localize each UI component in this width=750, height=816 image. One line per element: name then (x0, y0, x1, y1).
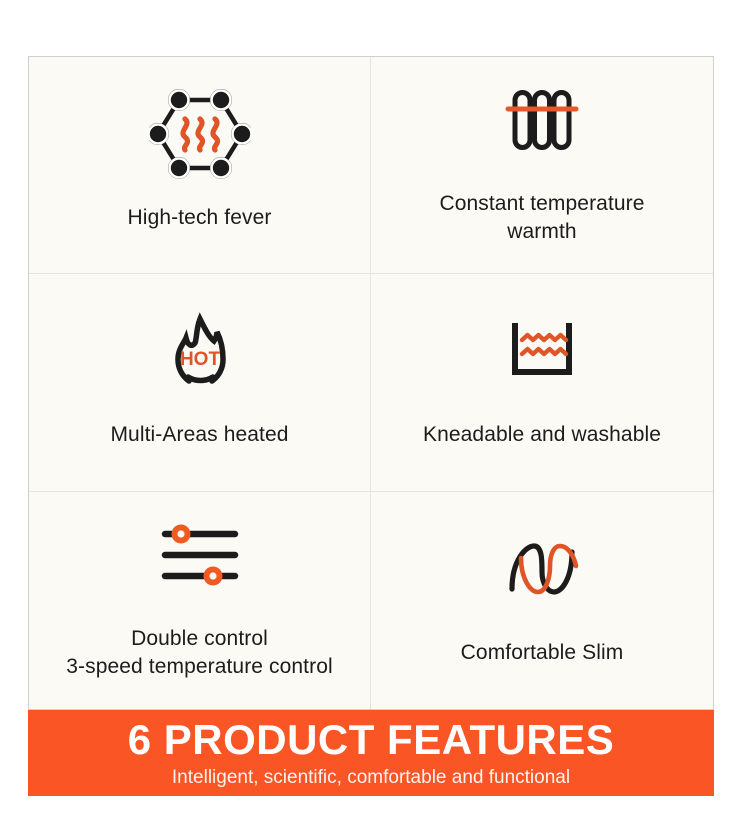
wash-basin-waves-icon (502, 303, 582, 399)
feature-label: Kneadable and washable (423, 421, 661, 449)
hexagon-heat-nodes-icon (149, 86, 251, 182)
feature-cell-high-tech-fever: High-tech fever (29, 57, 371, 274)
banner-subtitle: Intelligent, scientific, comfortable and… (172, 766, 570, 790)
feature-cell-comfortable-slim: Comfortable Slim (371, 492, 713, 709)
banner-title: 6 PRODUCT FEATURES (128, 716, 615, 764)
feature-cell-kneadable-and-washable: Kneadable and washable (371, 274, 713, 491)
flame-hot-label: HOT (179, 349, 220, 370)
slider-knob-bottom (203, 567, 222, 586)
feature-cell-multi-areas-heated: HOT Multi-Areas heated (29, 274, 371, 491)
feature-cell-constant-temperature-warmth: Constant temperature warmth (371, 57, 713, 274)
product-features-page: High-tech fever Constant temperature war… (0, 0, 750, 816)
interleaved-waves-icon (496, 521, 588, 617)
feature-cell-double-control: Double control 3-speed temperature contr… (29, 492, 371, 709)
feature-label: Constant temperature warmth (439, 190, 644, 246)
feature-label: Multi-Areas heated (110, 421, 288, 449)
slider-knob-top (171, 525, 190, 544)
flame-hot-icon: HOT (160, 303, 240, 399)
slider-controls-icon (155, 507, 245, 603)
feature-label: High-tech fever (128, 204, 272, 232)
feature-label: Comfortable Slim (461, 639, 624, 667)
features-banner: 6 PRODUCT FEATURES Intelligent, scientif… (28, 710, 714, 796)
feature-grid: High-tech fever Constant temperature war… (28, 56, 714, 710)
feature-label: Double control 3-speed temperature contr… (66, 625, 333, 681)
radiator-coils-icon (500, 72, 584, 168)
